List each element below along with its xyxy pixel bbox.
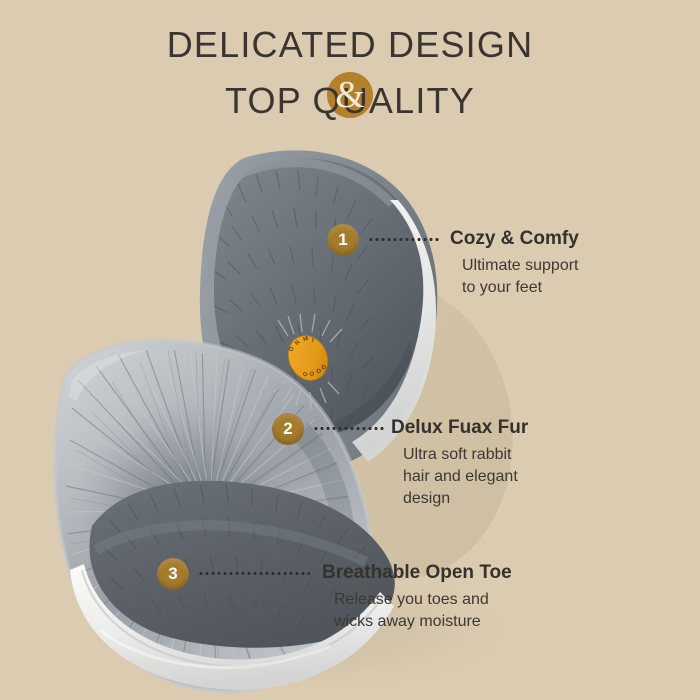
page-title-line-1: DELICATED DESIGN [0, 22, 700, 68]
callout-3-badge[interactable]: 3 [157, 558, 189, 590]
callout-3-description: Release you toes and wicks away moisture [334, 589, 512, 633]
callout-1-text: Cozy & Comfy Ultimate support to your fe… [450, 228, 579, 299]
callout-2-text: Delux Fuax Fur Ultra soft rabbit hair an… [391, 417, 528, 510]
callout-2-title: Delux Fuax Fur [391, 417, 528, 439]
product-infographic: DELICATED DESIGN & TOP QUALITY [0, 0, 700, 700]
callout-2-badge[interactable]: 2 [272, 413, 304, 445]
heading-block: DELICATED DESIGN & TOP QUALITY [0, 22, 700, 124]
callout-2-leader-line [313, 427, 385, 430]
callout-1-title: Cozy & Comfy [450, 228, 579, 250]
callout-1-leader-line [368, 238, 440, 241]
callout-3-text: Breathable Open Toe Release you toes and… [322, 562, 512, 633]
ampersand-glyph: & [325, 70, 375, 120]
callout-1-badge[interactable]: 1 [327, 224, 359, 256]
callout-1-description: Ultimate support to your feet [462, 255, 579, 299]
callout-2-description: Ultra soft rabbit hair and elegant desig… [403, 444, 528, 510]
callout-3-leader-line [198, 572, 310, 575]
callout-3-title: Breathable Open Toe [322, 562, 512, 584]
